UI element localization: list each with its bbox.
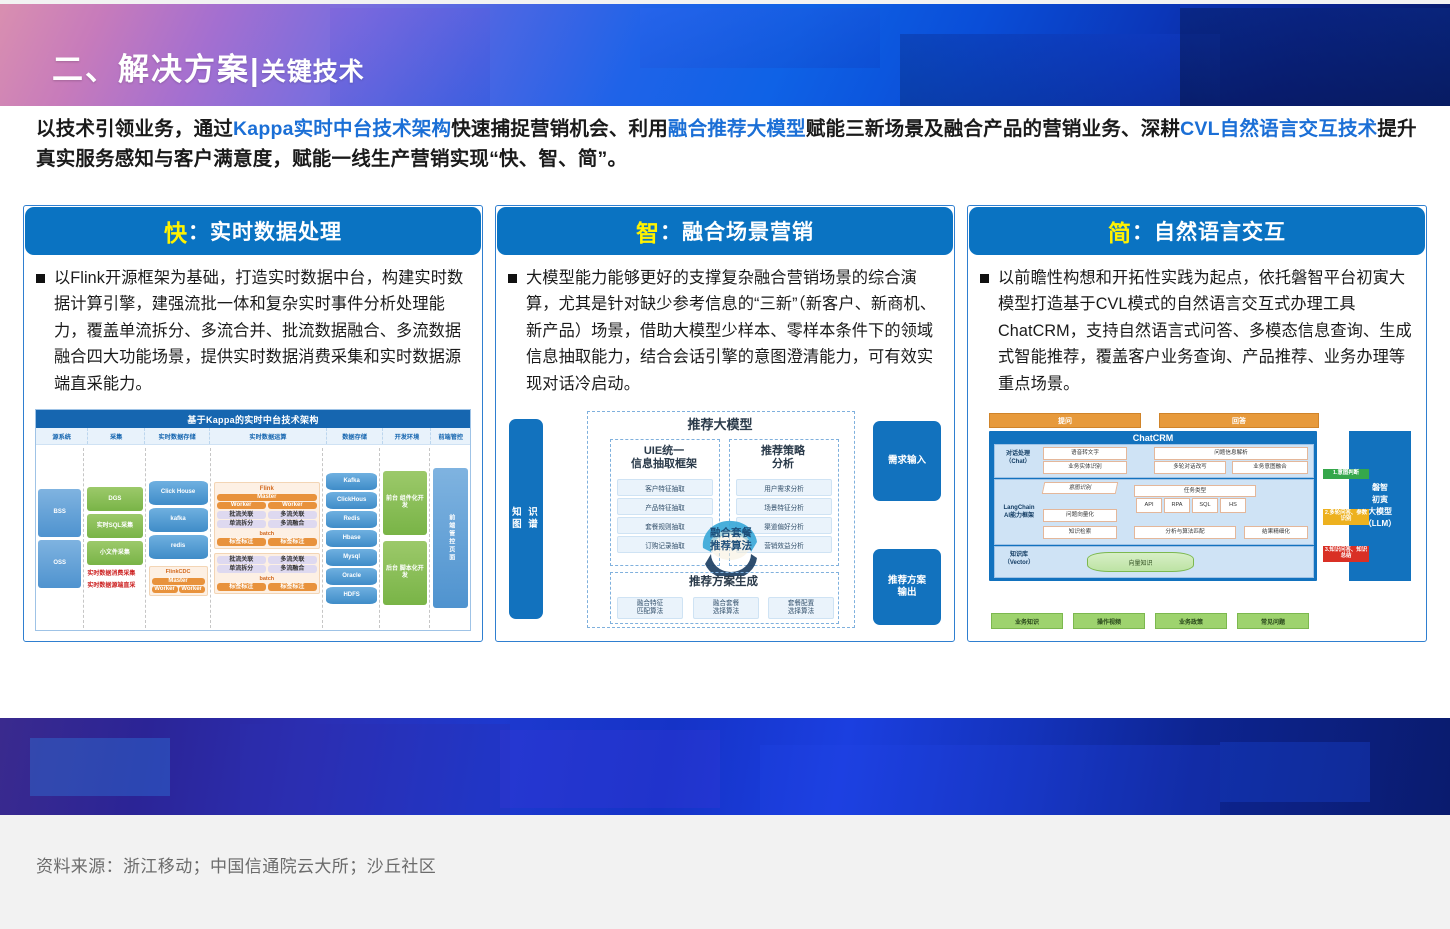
chatcrm-architecture-diagram: 提问 回答 ChatCRM 对话处理 （Chat） 语音转文字 业务实体识别 问… — [979, 409, 1415, 631]
diagram-front: 前端管控页面 — [429, 448, 468, 628]
card-smart-title: 融合场景营销 — [682, 216, 814, 246]
chatcrm-title: ChatCRM — [989, 433, 1317, 443]
bullet-square-icon — [36, 274, 45, 283]
card-simple-figure: 提问 回答 ChatCRM 对话处理 （Chat） 语音转文字 业务实体识别 问… — [979, 409, 1415, 631]
op2-1: 多流关联 — [268, 556, 317, 564]
knowledge-graph-panel: 知 识 图 谱 — [509, 419, 543, 619]
page-title-sub: 关键技术 — [261, 58, 365, 86]
diagram-title: 基于Kappa的实时中台技术架构 — [36, 410, 470, 428]
tag-intent: 1.意图判断 — [1323, 469, 1369, 479]
dev-front: 前台 组件化开发 — [383, 471, 426, 535]
col-header-2: 实时数据存储 — [145, 428, 210, 444]
batch-op-0: 标签标注 — [217, 538, 266, 546]
bullet-row: 大模型能力能够更好的支撑复杂融合营销场景的综合演算，尤其是针对缺少参考信息的“三… — [508, 265, 942, 397]
diagram-main: BSS OSS DGS 实时SQL采集 小文件采集 实时数据消费采集 实时数据源… — [36, 445, 470, 631]
card-smart-text: 大模型能力能够更好的支撑复杂融合营销场景的综合演算，尤其是针对缺少参考信息的“三… — [526, 265, 942, 397]
bullet-row: 以前瞻性构想和开拓性实践为起点，依托磐智平台初寅大模型打造基于CVL模式的自然语… — [980, 265, 1414, 397]
lane-langchain-label: LangChain AI能力框架 — [996, 505, 1042, 520]
card-fast[interactable]: 快：实时数据处理 以Flink开源框架为基础，打造实时数据中台，构建实时数据计算… — [23, 205, 483, 642]
bar-answer: 回答 — [1159, 413, 1319, 428]
card-simple[interactable]: 简：自然语言交互 以前瞻性构想和开拓性实践为起点，依托磐智平台初寅大模型打造基于… — [967, 205, 1427, 642]
diagram-stream-store: Click House kafka redis FlinkCDC Master … — [145, 448, 208, 628]
card-smart-header: 智：融合场景营销 — [497, 207, 953, 255]
chat-box-4: 业务意图融合 — [1232, 461, 1308, 474]
lc-box-refine: 结果精细化 — [1244, 526, 1308, 539]
node-bss: BSS — [38, 489, 81, 537]
card-simple-title: 自然语言交互 — [1154, 216, 1286, 246]
node-flink-worker-2: Worker — [268, 502, 317, 509]
bullet-square-icon — [980, 274, 989, 283]
card-smart-body: 大模型能力能够更好的支撑复杂融合营销场景的综合演算，尤其是针对缺少参考信息的“三… — [496, 256, 954, 397]
col-header-1: 采集 — [88, 428, 145, 444]
plan-item-0: 融合特征 匹配算法 — [617, 597, 683, 619]
lc-box-hs: HS — [1220, 498, 1246, 513]
op-0: 批流关联 — [217, 511, 266, 519]
bottom-box-2: 业务政策 — [1155, 613, 1227, 629]
card-fast-body: 以Flink开源框架为基础，打造实时数据中台，构建实时数据计算引擎，建强流批一体… — [24, 256, 482, 397]
card-fast-figure: 基于Kappa的实时中台技术架构 源系统 采集 实时数据存储 实时数据运算 数据… — [35, 409, 471, 631]
bottom-shard-1 — [30, 738, 170, 796]
lead-text-3: 赋能三新场景及融合产品的营销业务、深耕 — [806, 118, 1180, 140]
model-title: 推荐大模型 — [587, 417, 853, 433]
bottom-box-0: 业务知识 — [991, 613, 1063, 629]
card-simple-header: 简：自然语言交互 — [969, 207, 1425, 255]
demand-input-panel: 需求输入 — [873, 421, 941, 501]
diagram-dev: 前台 组件化开发 后台 脚本化开发 — [379, 448, 426, 628]
node-flink: Flink — [217, 485, 317, 493]
op2-2: 单流拆分 — [217, 565, 266, 573]
front-console: 前端管控页面 — [433, 468, 468, 608]
lead-paragraph: 以技术引领业务，通过Kappa实时中台技术架构快速捕捉营销机会、利用融合推荐大模… — [36, 114, 1418, 174]
card-simple-key: 简 — [1108, 214, 1132, 248]
diagram-storage: Kafka ClickHous Redis Hbase Mysql Oracle… — [322, 448, 377, 628]
card-simple-sep: ： — [1132, 216, 1154, 246]
note-consume: 实时数据消费采集 — [87, 568, 142, 577]
col-header-3: 实时数据运算 — [210, 428, 327, 444]
op-1: 多流关联 — [268, 511, 317, 519]
bottom-shard-5 — [1220, 742, 1370, 802]
chat-box-1: 业务实体识别 — [1043, 461, 1127, 474]
bar-question: 提问 — [989, 413, 1141, 428]
node-flink-master: Master — [217, 494, 317, 501]
card-fast-text: 以Flink开源框架为基础，打造实时数据中台，构建实时数据计算引擎，建强流批一体… — [54, 265, 470, 397]
flink-pane: Flink Master Worker Worker 批流关联 多流关联 — [214, 482, 320, 549]
bottom-box-3: 常见问题 — [1237, 613, 1309, 629]
card-simple-text: 以前瞻性构想和开拓性实践为起点，依托磐智平台初寅大模型打造基于CVL模式的自然语… — [998, 265, 1414, 397]
col-header-6: 前端管控 — [431, 428, 470, 444]
card-fast-title: 实时数据处理 — [210, 216, 342, 246]
card-fast-key: 快 — [164, 214, 188, 248]
lane-vector-label: 知识库 （Vector） — [996, 552, 1042, 567]
node-oss: OSS — [38, 540, 81, 588]
lead-highlight-3: CVL自然语言交互技术 — [1180, 118, 1377, 140]
card-fast-sep: ： — [188, 216, 210, 246]
fusion-algorithm-label: 融合套餐 推荐算法 — [683, 527, 779, 552]
card-simple-body: 以前瞻性构想和开拓性实践为起点，依托磐智平台初寅大模型打造基于CVL模式的自然语… — [968, 256, 1426, 397]
bullet-row: 以Flink开源框架为基础，打造实时数据中台，构建实时数据计算引擎，建强流批一体… — [36, 265, 470, 397]
card-fast-header: 快：实时数据处理 — [25, 207, 481, 255]
diagram-collect: DGS 实时SQL采集 小文件采集 实时数据消费采集 实时数据源端直采 — [83, 448, 142, 628]
lead-highlight-2: 融合推荐大模型 — [668, 118, 806, 140]
lc-box-intent: 意图识别 — [1042, 482, 1119, 494]
cards-row: 快：实时数据处理 以Flink开源框架为基础，打造实时数据中台，构建实时数据计算… — [23, 205, 1429, 745]
batch-op2-0: 标签标注 — [217, 583, 266, 591]
plan-item-1: 融合套餐 选择算法 — [693, 597, 759, 619]
band-shard-4 — [1180, 8, 1450, 110]
lane-chat-label: 对话处理 （Chat） — [996, 451, 1040, 466]
plan-item-2: 套餐配置 选择算法 — [768, 597, 834, 619]
card-smart-figure: 知 识 图 谱 推荐大模型 UIE统一 信息抽取框架 客户特征抽取 产品特征抽取… — [507, 409, 943, 631]
diagram-engine: Flink Master Worker Worker 批流关联 多流关联 — [210, 448, 320, 628]
strategy-title: 推荐策略 分析 — [729, 445, 837, 471]
plan-gen-title: 推荐方案生成 — [610, 576, 837, 590]
node-redis: redis — [149, 535, 208, 559]
node-file-collect: 小文件采集 — [87, 541, 142, 565]
col-header-4: 数据存储 — [327, 428, 384, 444]
node-flinkcdc: FlinkCDC — [152, 569, 205, 577]
chat-box-0: 语音转文字 — [1043, 447, 1127, 460]
store-2: Redis — [326, 511, 377, 528]
store-0: Kafka — [326, 473, 377, 490]
band-shard-2 — [640, 8, 880, 68]
lc-box-tasktype: 任务类型 — [1134, 485, 1256, 497]
lc-box-vector: 问题向量化 — [1043, 509, 1117, 522]
lead-highlight-1: Kappa实时中台技术架构 — [233, 118, 451, 140]
bottom-box-1: 操作视频 — [1073, 613, 1145, 629]
source-footer: 资料来源：浙江移动；中国信通院云大所；沙丘社区 — [36, 852, 436, 877]
band-shard-3 — [900, 34, 1220, 110]
batch-label-2: batch — [217, 575, 317, 583]
card-smart-sep: ： — [660, 216, 682, 246]
lc-box-sql: SQL — [1192, 498, 1218, 513]
note-direct: 实时数据源端直采 — [87, 580, 142, 589]
page-title-main: 二、解决方案 — [52, 52, 250, 87]
op2-0: 批流关联 — [217, 556, 266, 564]
strategy-item-0: 用户需求分析 — [736, 479, 832, 496]
store-6: HDFS — [326, 587, 377, 604]
store-5: Oracle — [326, 568, 377, 585]
op-3: 多流融合 — [268, 520, 317, 528]
bottom-shard-4 — [760, 745, 1220, 815]
batch-label-1: batch — [217, 530, 317, 538]
kappa-architecture-diagram: 基于Kappa的实时中台技术架构 源系统 采集 实时数据存储 实时数据运算 数据… — [35, 409, 471, 631]
uie-title: UIE统一 信息抽取框架 — [610, 445, 718, 471]
store-4: Mysql — [326, 549, 377, 566]
batch-op-1: 标签标注 — [268, 538, 317, 546]
slide-page: 二、解决方案|关键技术 以技术引领业务，通过Kappa实时中台技术架构快速捕捉营… — [0, 0, 1450, 929]
bottom-shard-2 — [240, 724, 510, 814]
lc-box-analysis: 分析与算法匹配 — [1134, 526, 1236, 539]
col-header-5: 开发环境 — [383, 428, 431, 444]
tag-knowledge: 3.知识问答、知识总结 — [1323, 546, 1369, 562]
node-cdc-worker-2: Worker — [179, 586, 205, 593]
flinkcdc-pane: FlinkCDC Master Worker Worker — [149, 566, 208, 596]
dev-back: 后台 脚本化开发 — [383, 541, 426, 605]
plan-output-panel: 推荐方案 输出 — [873, 549, 941, 625]
node-kafka: kafka — [149, 508, 208, 532]
batch-op2-1: 标签标注 — [268, 583, 317, 591]
node-sql-collect: 实时SQL采集 — [87, 514, 142, 538]
vector-knowledge-store: 向量知识 — [1087, 552, 1194, 572]
diagram-column-headers: 源系统 采集 实时数据存储 实时数据运算 数据存储 开发环境 前端管控 — [36, 428, 470, 445]
node-cdc-worker-1: Worker — [152, 586, 178, 593]
node-flink-worker-1: Worker — [217, 502, 266, 509]
node-clickhouse: Click House — [149, 481, 208, 505]
chat-box-2: 问题信息解析 — [1154, 447, 1308, 460]
lc-box-retrieval: 知识检索 — [1043, 526, 1117, 539]
card-smart[interactable]: 智：融合场景营销 大模型能力能够更好的支撑复杂融合营销场景的综合演算，尤其是针对… — [495, 205, 955, 642]
tag-multiturn: 2.多轮问答、参数识别 — [1323, 509, 1369, 525]
flink-pane-2: 批流关联 多流关联 单流拆分 多流融合 batch — [214, 553, 320, 594]
lead-text-1: 以技术引领业务，通过 — [36, 118, 233, 140]
op2-3: 多流融合 — [268, 565, 317, 573]
store-3: Hbase — [326, 530, 377, 547]
node-dgs: DGS — [87, 487, 142, 511]
col-header-0: 源系统 — [36, 428, 88, 444]
node-cdc-master: Master — [152, 578, 205, 585]
page-title: 二、解决方案|关键技术 — [52, 44, 365, 89]
card-smart-key: 智 — [636, 214, 660, 248]
bullet-square-icon — [508, 274, 517, 283]
op-2: 单流拆分 — [217, 520, 266, 528]
uie-item-0: 客户特征抽取 — [617, 479, 713, 496]
bottom-shard-3 — [500, 730, 720, 808]
diagram-sources: BSS OSS — [38, 448, 81, 628]
lead-text-2: 快速捕捉营销机会、利用 — [451, 118, 668, 140]
lc-box-api: API — [1136, 498, 1162, 513]
chat-box-3: 多轮对话改写 — [1154, 461, 1226, 474]
lc-box-rpa: RPA — [1164, 498, 1190, 513]
recommendation-model-diagram: 知 识 图 谱 推荐大模型 UIE统一 信息抽取框架 客户特征抽取 产品特征抽取… — [507, 409, 943, 631]
content-sheet: 以技术引领业务，通过Kappa实时中台技术架构快速捕捉营销机会、利用融合推荐大模… — [0, 106, 1450, 718]
page-title-divider: | — [250, 52, 261, 87]
store-1: ClickHous — [326, 492, 377, 509]
